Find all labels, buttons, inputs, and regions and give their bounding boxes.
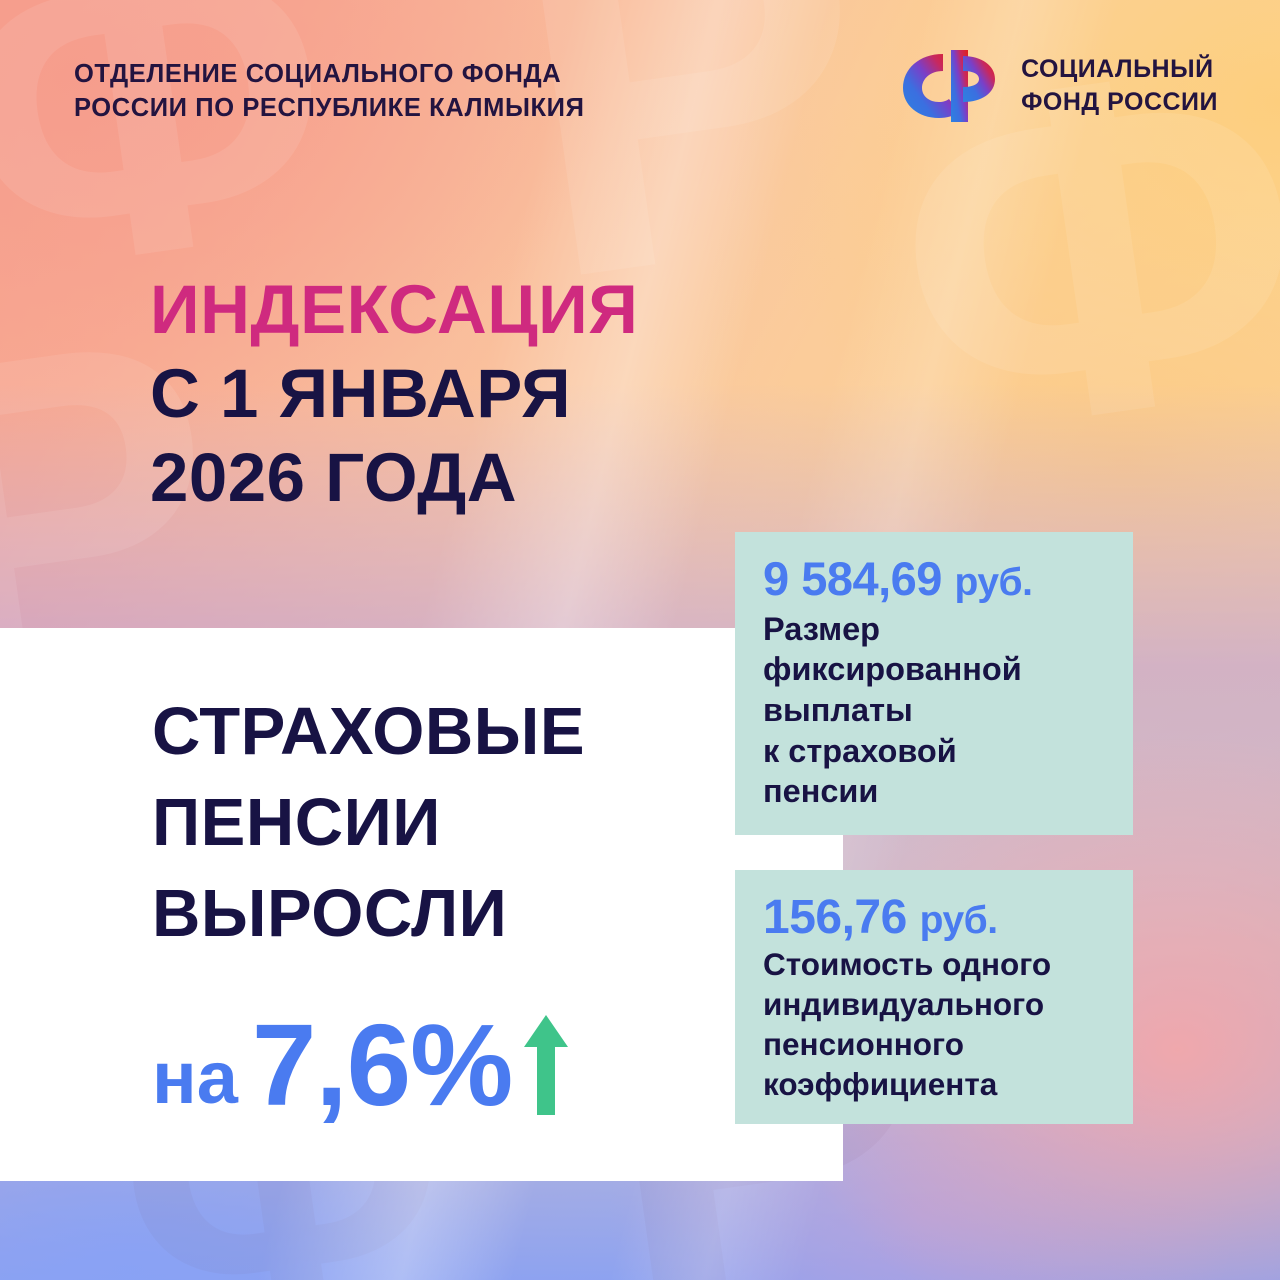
stat-card-amount-value: 156,76 — [763, 891, 907, 944]
percentage-prefix: на — [152, 1041, 238, 1121]
stat-card-amount-value: 9 584,69 — [763, 552, 942, 605]
hero-line-indexation: ИНДЕКСАЦИЯ — [150, 268, 850, 352]
infographic-poster: Ф Р Ф Р Р Ф ОТДЕЛЕНИЕ СОЦИАЛЬНОГО ФОНДА … — [0, 0, 1280, 1280]
percentage-value: 7,6% — [252, 1010, 512, 1121]
stat-card-amount-unit: руб. — [955, 561, 1033, 604]
sfr-logo-icon — [897, 48, 1001, 124]
stat-card-description: Размер фиксированной выплаты к страховой… — [763, 609, 1107, 812]
stat-card-fixed-payment: 9 584,69 руб. Размер фиксированной выпла… — [735, 532, 1133, 835]
hero-line-date-1: С 1 ЯНВАРЯ — [150, 352, 850, 436]
main-message-line-1: СТРАХОВЫЕ — [152, 686, 802, 777]
stat-card-description: Стоимость одного индивидуального пенсион… — [763, 944, 1107, 1104]
main-message-line-2: ПЕНСИИ — [152, 777, 802, 868]
stat-card-pension-coefficient: 156,76 руб. Стоимость одного индивидуаль… — [735, 870, 1133, 1124]
organization-name: ОТДЕЛЕНИЕ СОЦИАЛЬНОГО ФОНДА РОССИИ ПО РЕ… — [74, 58, 585, 126]
stat-card-amount: 156,76 руб. — [763, 892, 1107, 944]
hero-title: ИНДЕКСАЦИЯ С 1 ЯНВАРЯ 2026 ГОДА — [150, 268, 850, 521]
stat-card-amount: 9 584,69 руб. — [763, 554, 1107, 605]
brand-name: СОЦИАЛЬНЫЙ ФОНД РОССИИ — [1021, 53, 1218, 119]
header: ОТДЕЛЕНИЕ СОЦИАЛЬНОГО ФОНДА РОССИИ ПО РЕ… — [0, 0, 1280, 150]
main-message-heading: СТРАХОВЫЕ ПЕНСИИ ВЫРОСЛИ — [152, 686, 802, 959]
percentage-highlight: на 7,6% — [152, 1010, 570, 1121]
main-message-panel: СТРАХОВЫЕ ПЕНСИИ ВЫРОСЛИ на 7,6% — [0, 628, 843, 1181]
main-message-line-3: ВЫРОСЛИ — [152, 868, 802, 959]
brand-lockup: СОЦИАЛЬНЫЙ ФОНД РОССИИ — [897, 48, 1218, 124]
arrow-up-icon — [522, 1013, 570, 1117]
stat-card-amount-unit: руб. — [920, 899, 998, 942]
hero-line-date-2: 2026 ГОДА — [150, 436, 850, 520]
